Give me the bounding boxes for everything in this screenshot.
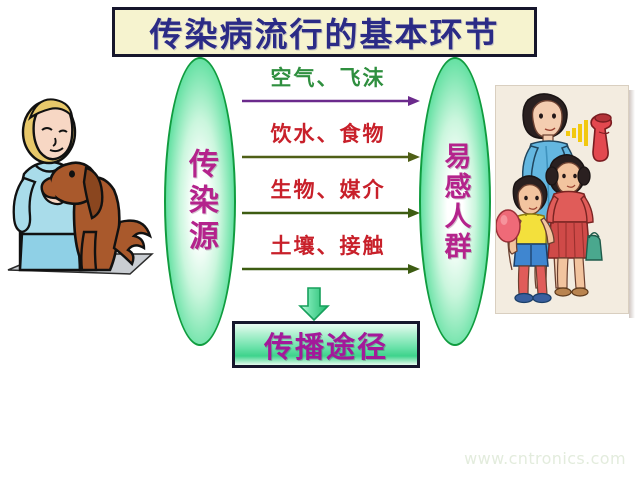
transmission-route-row: 土壤、接触	[236, 230, 420, 276]
node-susceptible-population[interactable]: 易感人群	[419, 57, 491, 346]
route-label-air-droplet: 空气、飞沫	[236, 62, 420, 92]
node-susceptible-population-label: 易感人群	[442, 142, 469, 262]
route-label-water-food: 饮水、食物	[236, 118, 420, 148]
down-arrow-icon	[296, 286, 332, 322]
route-label-soil-contact: 土壤、接触	[236, 230, 420, 260]
transmission-route-row: 空气、飞沫	[236, 62, 420, 108]
node-infection-source-label: 传染源	[185, 148, 215, 256]
woman-dog-drawing	[2, 82, 160, 282]
route-arrow-soil-contact	[242, 263, 420, 275]
illustration-woman-hugging-dog	[2, 82, 160, 282]
route-arrow-water-food	[242, 151, 420, 163]
watermark: www.cntronics.com	[464, 449, 626, 468]
route-arrow-air-droplet	[242, 95, 420, 107]
family-group-drawing	[496, 86, 628, 313]
node-infection-source[interactable]: 传染源	[164, 57, 236, 346]
transmission-route-row: 生物、媒介	[236, 174, 420, 220]
node-transmission-route[interactable]: 传播途径	[232, 321, 420, 368]
route-arrow-biology-vector	[242, 207, 420, 219]
route-label-biology-vector: 生物、媒介	[236, 174, 420, 204]
page-title-banner: 传染病流行的基本环节	[112, 7, 537, 57]
node-transmission-route-label: 传播途径	[264, 324, 388, 366]
illustration-right-shadow	[629, 90, 635, 318]
illustration-family-group	[495, 85, 629, 314]
transmission-route-row: 饮水、食物	[236, 118, 420, 164]
slide-canvas: 传染病流行的基本环节	[0, 0, 640, 480]
page-title: 传染病流行的基本环节	[150, 8, 500, 56]
